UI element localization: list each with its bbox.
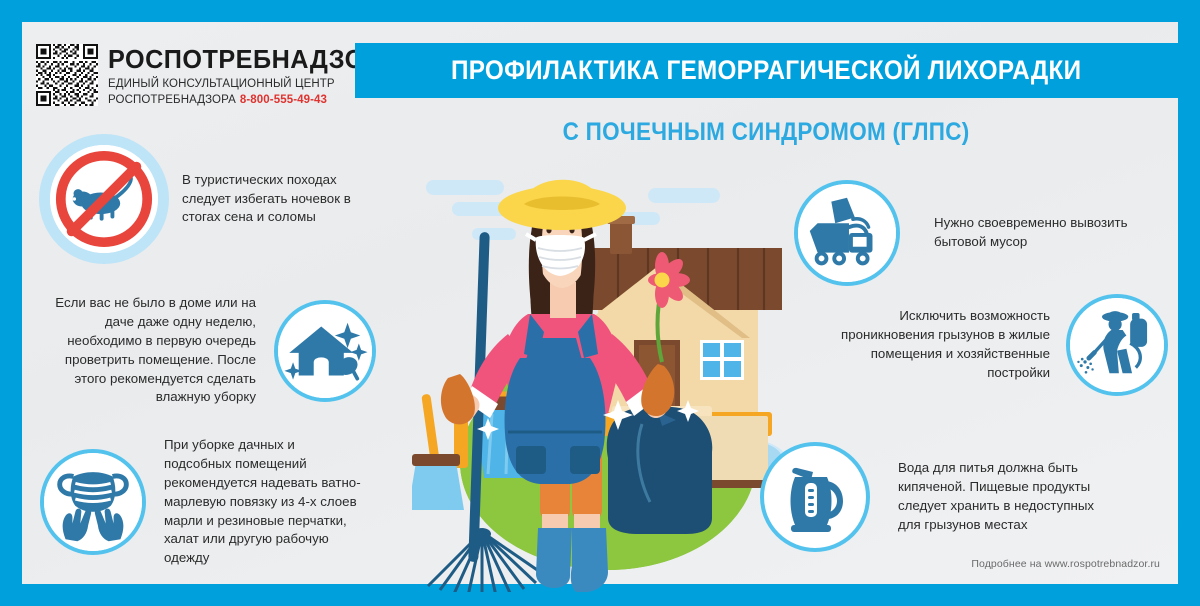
trash-bag [607, 406, 712, 534]
house-cleaning-icon [274, 300, 376, 402]
hotline-phone-number[interactable]: 8-800-555-49-43 [240, 94, 327, 106]
tip-right-3-text: Вода для питья должна быть кипяченой. Пи… [898, 459, 1098, 535]
brand-name: РОСПОТРЕБНАДЗОР [108, 44, 382, 75]
main-title: ПРОФИЛАКТИКА ГЕМОРРАГИЧЕСКОЙ ЛИХОРАДКИ [451, 55, 1081, 86]
brand-subtitle-line1: ЕДИНЫЙ КОНСУЛЬТАЦИОННЫЙ ЦЕНТР [108, 78, 335, 90]
rospotrebnadzor-logo-block: РОСПОТРЕБНАДЗОР ЕДИНЫЙ КОНСУЛЬТАЦИОННЫЙ … [36, 36, 346, 118]
central-illustration [412, 162, 792, 592]
pocket-right [570, 446, 600, 474]
brand-subtitle-line2-text: РОСПОТРЕБНАДЗОРА [108, 94, 236, 106]
qr-code-icon [36, 44, 98, 106]
tip-right-2-text: Исключить возможность проникновения грыз… [812, 307, 1050, 383]
brand-subtitle-line2: РОСПОТРЕБНАДЗОРА8-800-555-49-43 [108, 94, 327, 106]
garbage-truck-icon [794, 180, 900, 286]
pocket-left [516, 446, 546, 474]
tip-right-1-text: Нужно своевременно вывозить бытовой мусо… [934, 214, 1144, 252]
tip-right-1: Нужно своевременно вывозить бытовой мусо… [784, 180, 1174, 286]
main-title-band: ПРОФИЛАКТИКА ГЕМОРРАГИЧЕСКОЙ ЛИХОРАДКИ [355, 43, 1178, 98]
pest-control-sprayer-icon [1066, 294, 1168, 396]
tip-right-3: Вода для питья должна быть кипяченой. Пи… [754, 442, 1174, 552]
infographic-poster: РОСПОТРЕБНАДЗОР ЕДИНЫЙ КОНСУЛЬТАЦИОННЫЙ … [0, 0, 1200, 606]
electric-kettle-icon [760, 442, 870, 552]
tip-left-1: В туристических походах следует избегать… [36, 145, 376, 253]
tip-left-3: При уборке дачных и подсобных помещений … [40, 436, 400, 568]
left-glove [441, 374, 475, 424]
footer-note[interactable]: Подробнее на www.rospotrebnadzor.ru [971, 558, 1160, 570]
tip-left-1-text: В туристических походах следует избегать… [182, 171, 362, 228]
tip-left-2: Если вас не было в доме или на даче даже… [46, 294, 396, 407]
right-boot [571, 528, 608, 592]
content-panel: РОСПОТРЕБНАДЗОР ЕДИНЫЙ КОНСУЛЬТАЦИОННЫЙ … [22, 22, 1178, 584]
no-rodent-icon [50, 145, 158, 253]
subtitle-text: С ПОЧЕЧНЫМ СИНДРОМОМ (ГЛПС) [563, 118, 970, 147]
tip-left-2-text: Если вас не было в доме или на даче даже… [46, 294, 256, 407]
house-window [700, 340, 744, 380]
left-boot [536, 528, 572, 588]
flower-center [655, 273, 670, 288]
subtitle-row: С ПОЧЕЧНЫМ СИНДРОМОМ (ГЛПС) [355, 108, 1178, 156]
tip-left-3-text: При уборке дачных и подсобных помещений … [164, 436, 364, 568]
chimney [610, 220, 632, 254]
mask-gloves-icon [40, 449, 146, 555]
tip-right-2: Исключить возможность проникновения грыз… [812, 294, 1178, 396]
